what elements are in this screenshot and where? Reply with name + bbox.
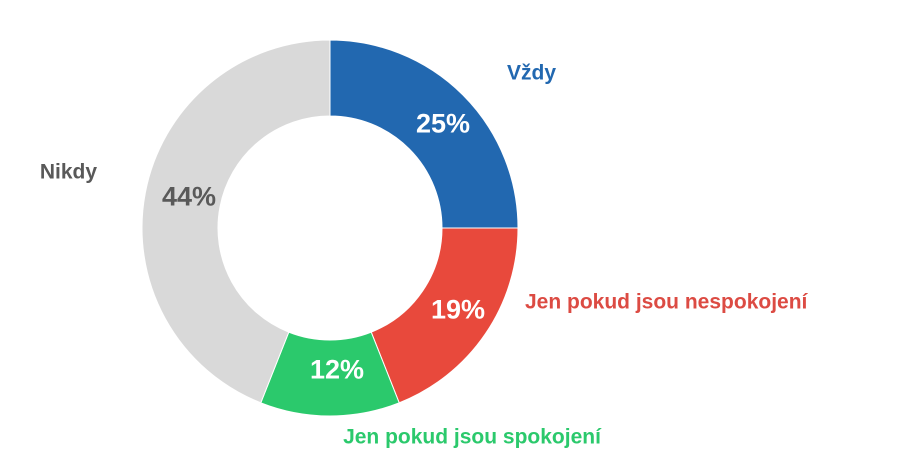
slice-value-label-vzdy: 25%	[416, 111, 470, 138]
slice-value-label-nikdy: 44%	[162, 184, 216, 211]
slice-category-label-nespokojeni: Jen pokud jsou nespokojení	[525, 292, 807, 313]
slice-category-label-nikdy: Nikdy	[40, 162, 97, 183]
slice-value-label-nespokojeni: 19%	[431, 297, 485, 324]
slice-category-label-spokojeni: Jen pokud jsou spokojení	[343, 427, 601, 448]
donut-chart-graphic	[0, 0, 923, 468]
slice-category-label-vzdy: Vždy	[507, 63, 556, 84]
slice-value-label-spokojeni: 12%	[310, 357, 364, 384]
donut-chart: 25% 19% 12% 44% Vždy Jen pokud jsou nesp…	[0, 0, 923, 468]
